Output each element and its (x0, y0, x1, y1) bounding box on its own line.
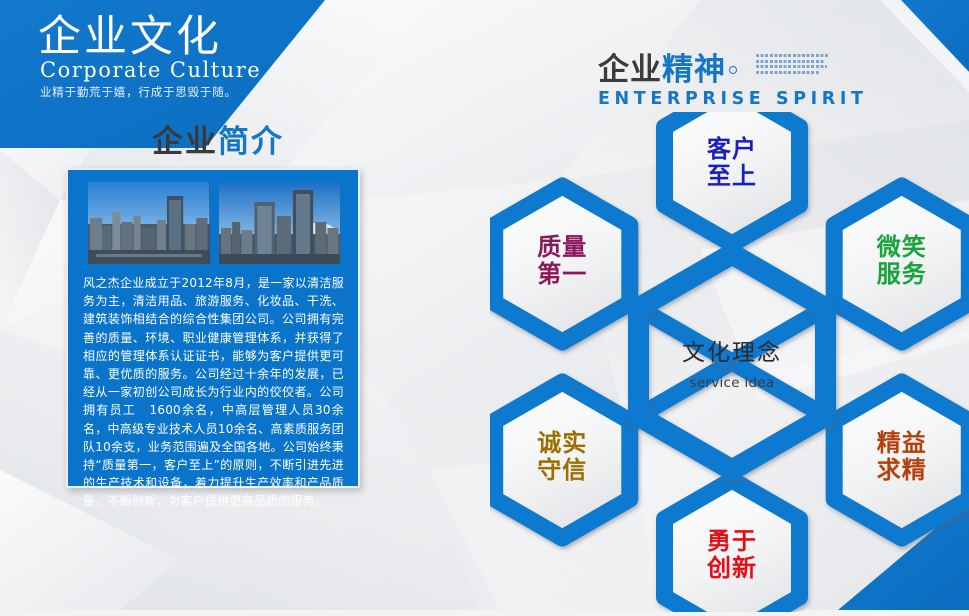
cityscape-photo-right (219, 182, 341, 264)
hexagon-excellence[interactable] (834, 382, 969, 538)
decorative-filler-text (756, 54, 828, 76)
intro-section-title: 企业简介 (152, 116, 284, 161)
banner-motto: 业精于勤荒于嬉，行成于思毁于随。 (40, 84, 237, 100)
hexagon-integrity[interactable] (495, 382, 630, 538)
intro-title-dark: 企业 (152, 124, 218, 160)
spirit-title-blue: 精神 (662, 52, 726, 88)
culture-hexagon-diagram: 客户至上微笑服务精益求精勇于创新诚实守信质量第一文化理念service idea (490, 112, 969, 616)
circle-dot-icon (729, 66, 737, 74)
cityscape-photo-left (88, 182, 210, 264)
photo-row (88, 182, 340, 264)
hexagon-quality-first[interactable] (495, 186, 630, 342)
intro-title-blue: 简介 (218, 124, 284, 160)
hexagon-smile-service[interactable] (834, 186, 969, 342)
spirit-title-en: ENTERPRISE SPIRIT (598, 89, 868, 109)
spirit-title-dark: 企业 (598, 52, 662, 88)
spirit-title-row: 企业精神 (598, 52, 868, 88)
hexagon-customer-first[interactable] (665, 112, 800, 244)
company-intro-card: 风之杰企业成立于2012年8月，是一家以清洁服务为主，清洁用品、旅游服务、化妆品… (66, 168, 360, 488)
hexagon-innovation[interactable] (665, 480, 800, 612)
company-intro-text: 风之杰企业成立于2012年8月，是一家以清洁服务为主，清洁用品、旅游服务、化妆品… (83, 274, 344, 511)
banner-title-cn: 企业文化 (38, 14, 222, 60)
banner-title-en: Corporate Culture (40, 58, 261, 82)
hexagon-svg (490, 112, 969, 612)
spirit-title-cn: 企业精神 (598, 52, 726, 88)
spirit-section-header: 企业精神 ENTERPRISE SPIRIT (598, 52, 868, 109)
